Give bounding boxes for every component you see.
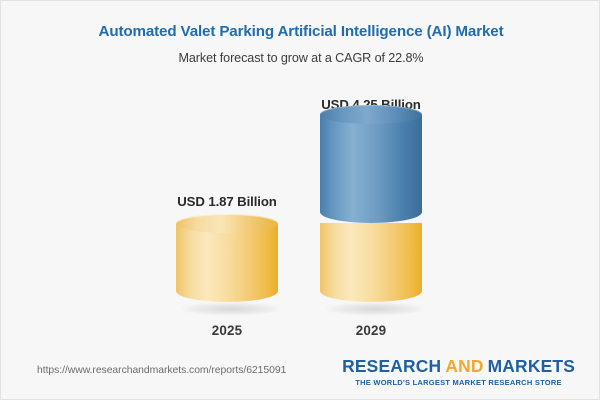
logo-wordmark: RESEARCHANDMARKETS <box>342 358 575 375</box>
cylinder-body <box>320 223 422 302</box>
cylinder-top-ellipse <box>176 214 278 233</box>
logo-word-research: RESEARCH <box>342 356 441 376</box>
bar-segment-gold-2029 <box>320 214 422 311</box>
logo-word-and: AND <box>445 356 483 376</box>
infographic-card: Automated Valet Parking Artificial Intel… <box>0 0 600 400</box>
chart-plot-area: USD 1.87 Billion 2025 USD 4.25 Billion <box>1 1 600 346</box>
footer: https://www.researchandmarkets.com/repor… <box>1 344 600 399</box>
bar-segment-blue-2029 <box>320 105 422 223</box>
logo-word-markets: MARKETS <box>488 356 575 376</box>
bar-segment-gold-2025 <box>176 214 278 311</box>
cylinder-bar-2025 <box>176 214 278 311</box>
category-label-2029: 2029 <box>291 323 451 338</box>
brand-logo[interactable]: RESEARCHANDMARKETS THE WORLD'S LARGEST M… <box>342 358 575 387</box>
cylinder-body <box>320 114 422 223</box>
category-label-2025: 2025 <box>147 323 307 338</box>
cylinder-top-ellipse <box>320 105 422 124</box>
cylinder-bar-2029 <box>320 105 422 311</box>
value-label-2025: USD 1.87 Billion <box>147 194 307 209</box>
cylinder-body <box>176 223 278 302</box>
logo-tagline: THE WORLD'S LARGEST MARKET RESEARCH STOR… <box>342 378 575 387</box>
report-url-link[interactable]: https://www.researchandmarkets.com/repor… <box>37 365 286 376</box>
